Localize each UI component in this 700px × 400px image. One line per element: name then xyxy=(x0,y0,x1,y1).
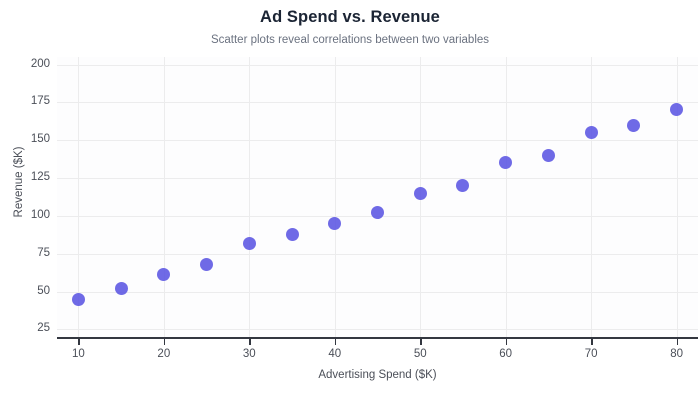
gridline-vertical xyxy=(164,57,165,337)
scatter-chart-figure: Ad Spend vs. Revenue Scatter plots revea… xyxy=(0,0,700,400)
gridline-vertical xyxy=(249,57,250,337)
gridline-horizontal xyxy=(57,178,698,179)
data-point xyxy=(243,237,256,250)
data-point xyxy=(627,119,640,132)
y-tick-label: 25 xyxy=(6,323,50,335)
x-tick-mark xyxy=(78,338,80,345)
gridline-horizontal xyxy=(57,254,698,255)
data-point xyxy=(200,258,213,271)
x-tick-mark xyxy=(591,338,593,345)
chart-subtitle: Scatter plots reveal correlations betwee… xyxy=(0,34,700,46)
data-point xyxy=(72,293,85,306)
data-point xyxy=(542,149,555,162)
x-tick-mark xyxy=(249,338,251,345)
x-axis-spine xyxy=(57,337,698,339)
data-point xyxy=(670,103,683,116)
data-point xyxy=(157,268,170,281)
x-tick-label: 30 xyxy=(219,348,279,360)
x-tick-label: 40 xyxy=(305,348,365,360)
x-tick-label: 60 xyxy=(476,348,536,360)
x-tick-label: 80 xyxy=(647,348,700,360)
chart-title: Ad Spend vs. Revenue xyxy=(0,8,700,27)
x-tick-label: 20 xyxy=(134,348,194,360)
data-point xyxy=(414,187,427,200)
y-axis-label: Revenue ($K) xyxy=(13,112,25,252)
gridline-vertical xyxy=(506,57,507,337)
gridline-horizontal xyxy=(57,329,698,330)
gridline-vertical xyxy=(335,57,336,337)
y-tick-label: 50 xyxy=(6,286,50,298)
x-tick-mark xyxy=(164,338,166,345)
gridline-horizontal xyxy=(57,292,698,293)
y-axis-tick-labels: 255075100125150175200 xyxy=(0,0,50,400)
plot-area xyxy=(57,57,698,337)
y-tick-label: 175 xyxy=(6,96,50,108)
gridline-horizontal xyxy=(57,140,698,141)
x-axis-label: Advertising Spend ($K) xyxy=(57,369,698,381)
data-point xyxy=(286,228,299,241)
data-point xyxy=(499,156,512,169)
x-tick-label: 10 xyxy=(48,348,108,360)
x-tick-label: 70 xyxy=(561,348,621,360)
x-tick-mark xyxy=(335,338,337,345)
x-tick-mark xyxy=(506,338,508,345)
x-tick-mark xyxy=(677,338,679,345)
x-tick-label: 50 xyxy=(390,348,450,360)
data-point xyxy=(371,206,384,219)
x-tick-mark xyxy=(420,338,422,345)
data-point xyxy=(328,217,341,230)
gridline-vertical xyxy=(591,57,592,337)
data-point xyxy=(585,126,598,139)
gridline-horizontal xyxy=(57,102,698,103)
gridline-vertical xyxy=(677,57,678,337)
y-tick-label: 200 xyxy=(6,59,50,71)
gridline-horizontal xyxy=(57,65,698,66)
data-point xyxy=(115,282,128,295)
data-point xyxy=(456,179,469,192)
